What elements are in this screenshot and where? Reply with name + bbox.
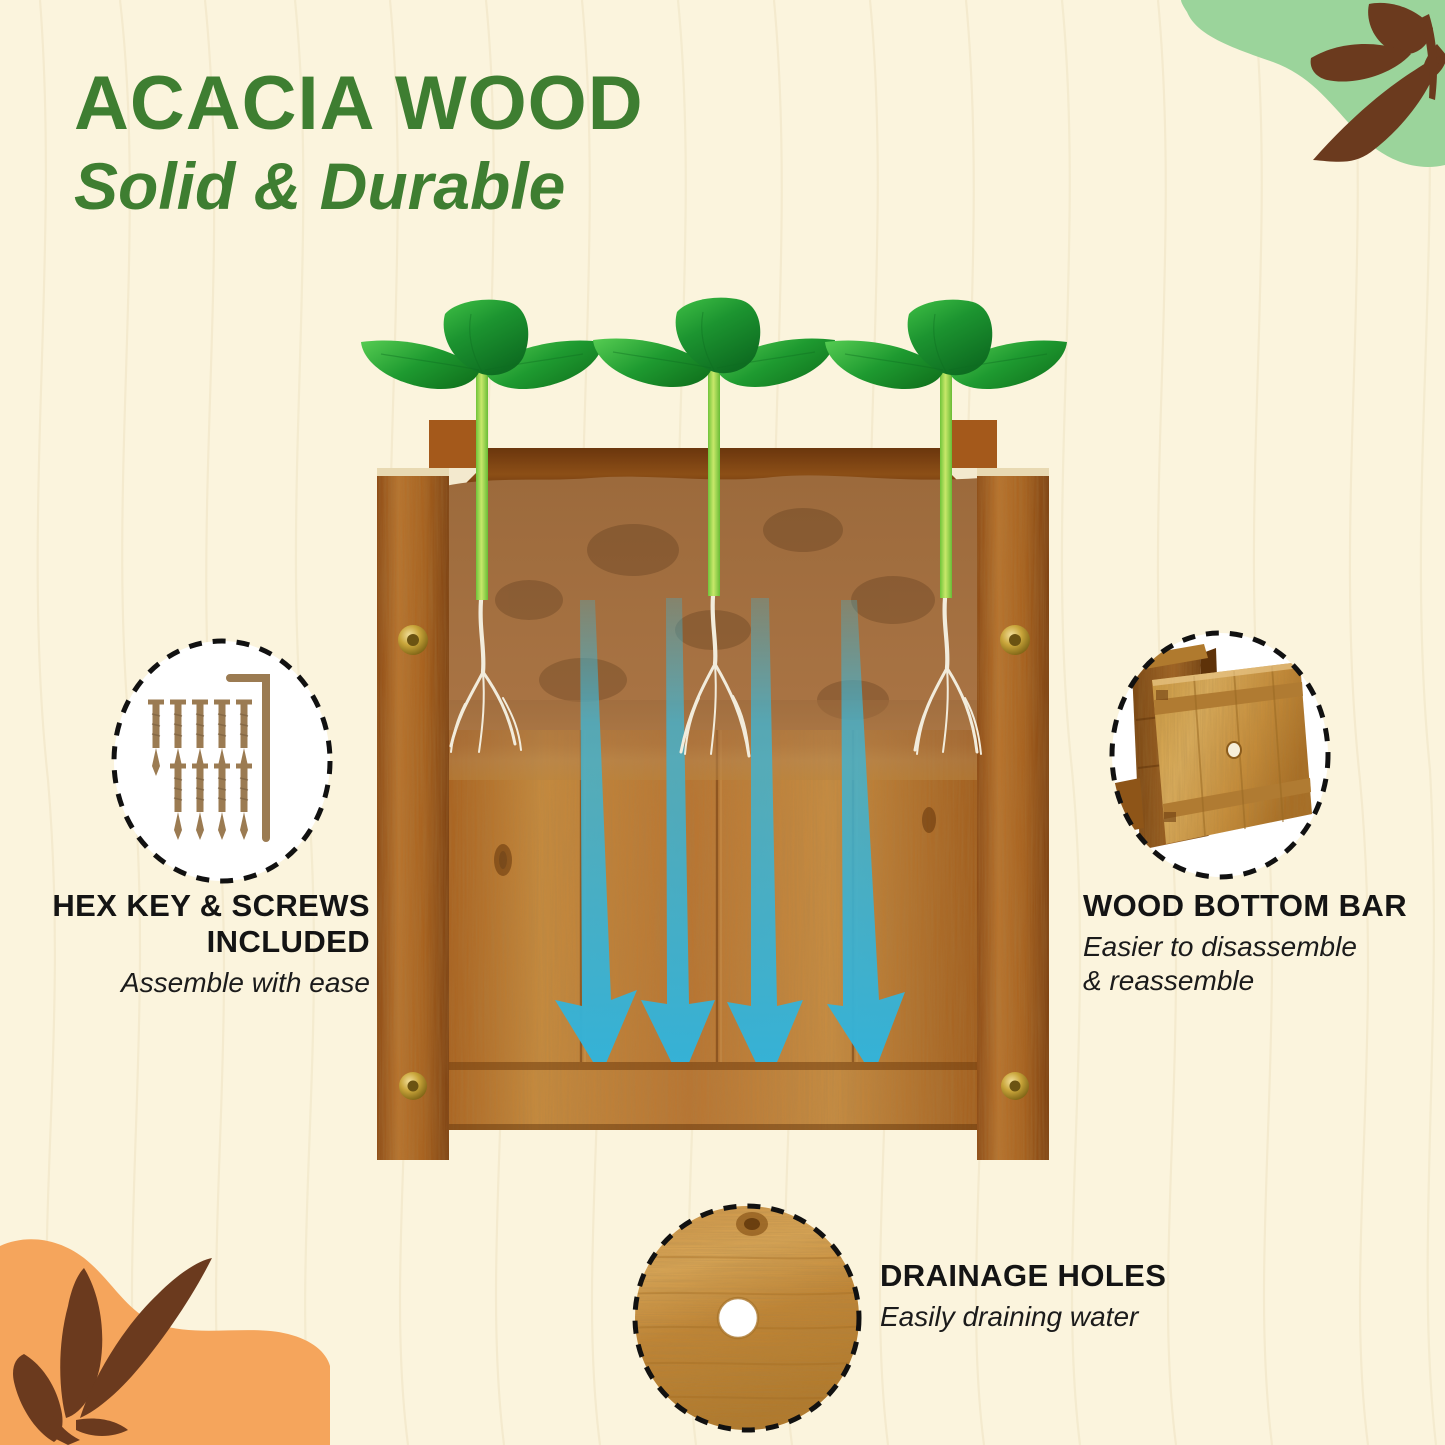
callout-wood-bottom-bar: WOOD BOTTOM BAR Easier to disassemble & … bbox=[1083, 888, 1445, 997]
bottom-left-leaf-decoration bbox=[0, 1220, 330, 1445]
removable-bottom-panel bbox=[1152, 662, 1312, 844]
callout-subtitle: Easily draining water bbox=[880, 1300, 1280, 1334]
hex-key-and-screws-icon bbox=[108, 636, 336, 886]
page-title: ACACIA WOOD bbox=[74, 66, 644, 142]
page-subtitle: Solid & Durable bbox=[74, 148, 644, 226]
wood-bottom-panel-icon bbox=[1104, 628, 1336, 882]
drainage-hole-wood-disc-icon bbox=[628, 1198, 866, 1438]
callout-hex-key-screws: HEX KEY & SCREWS INCLUDED Assemble with … bbox=[20, 888, 370, 1000]
callout-title: WOOD BOTTOM BAR bbox=[1083, 888, 1445, 924]
heading-block: ACACIA WOOD Solid & Durable bbox=[74, 66, 644, 226]
planter-box-cutaway-illustration bbox=[333, 300, 1093, 1200]
callout-title: HEX KEY & SCREWS INCLUDED bbox=[20, 888, 370, 960]
brown-leaf-cluster bbox=[1311, 3, 1445, 162]
brown-leaf-cluster bbox=[13, 1258, 212, 1445]
callout-subtitle: Assemble with ease bbox=[20, 966, 370, 1000]
planter-corner-post-left bbox=[377, 468, 449, 1160]
callout-title: DRAINAGE HOLES bbox=[880, 1258, 1280, 1294]
callout-subtitle: Easier to disassemble & reassemble bbox=[1083, 930, 1445, 997]
infographic-canvas: ACACIA WOOD Solid & Durable bbox=[0, 0, 1445, 1445]
planter-bottom-rail bbox=[437, 1062, 989, 1130]
planter-corner-post-right bbox=[977, 468, 1049, 1160]
top-right-leaf-decoration bbox=[1115, 0, 1445, 235]
callout-drainage-holes: DRAINAGE HOLES Easily draining water bbox=[880, 1258, 1280, 1334]
